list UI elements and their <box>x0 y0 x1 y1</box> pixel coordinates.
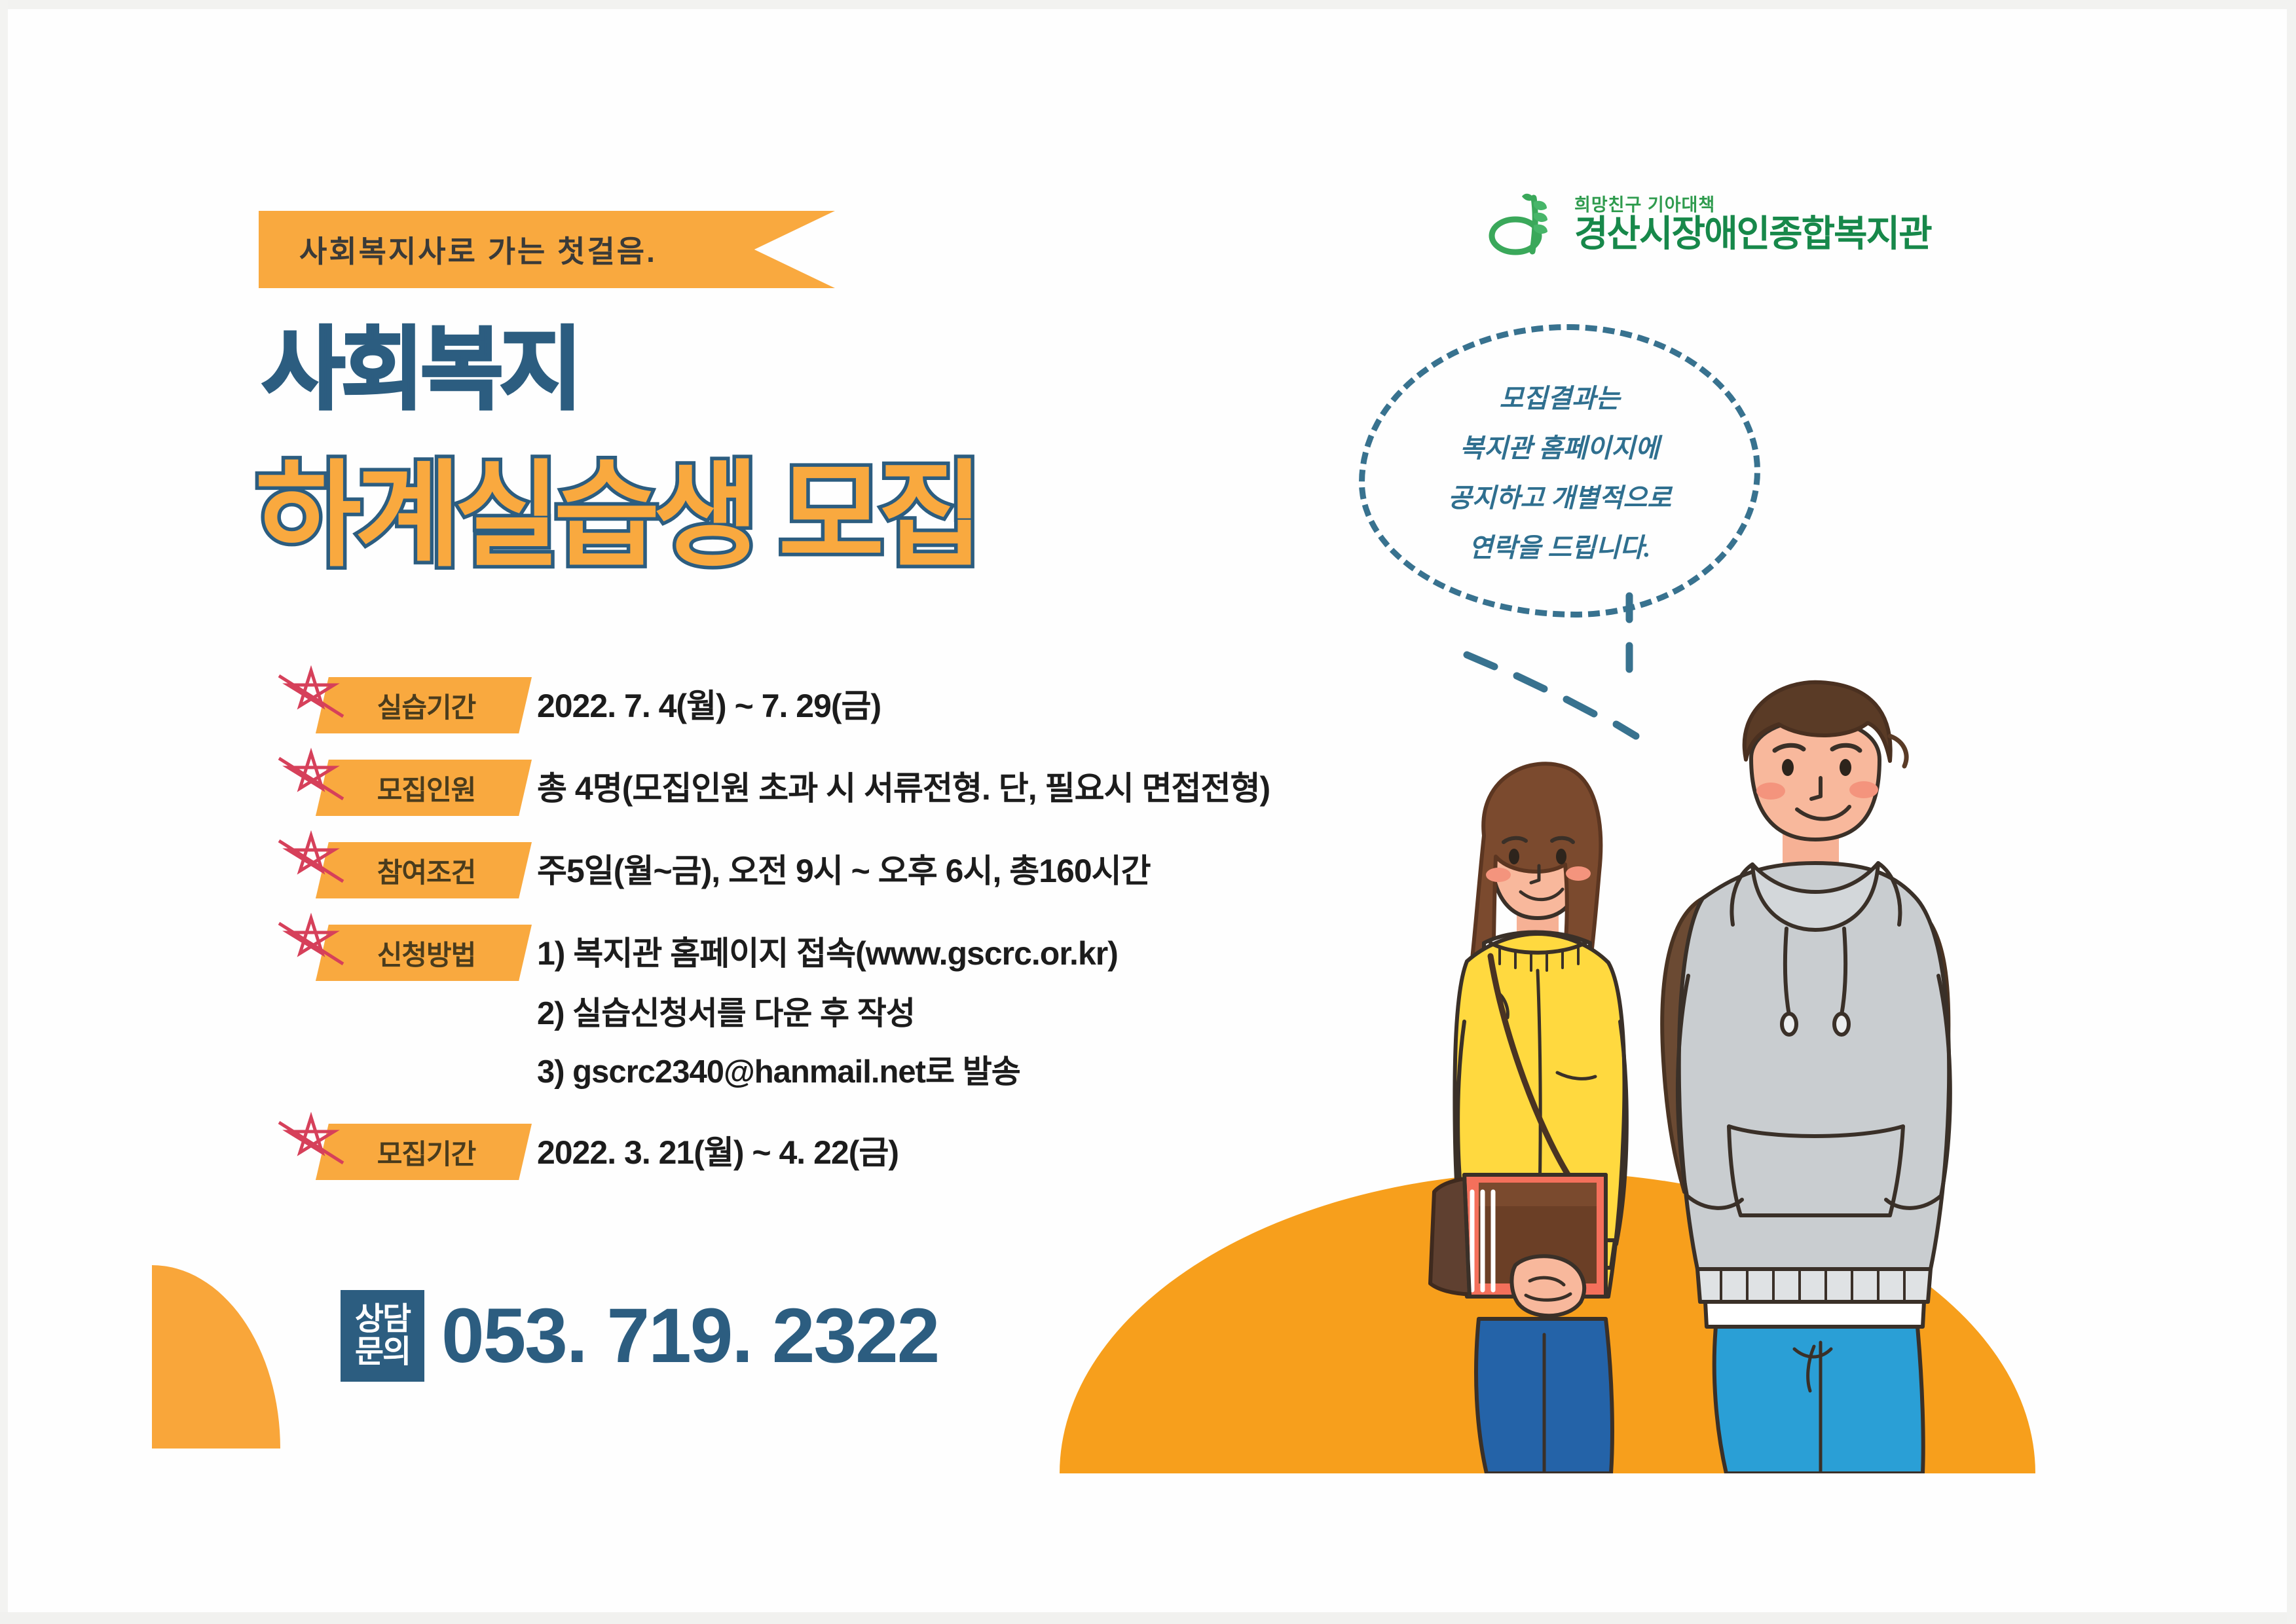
info-label-text: 신청방법 <box>377 933 476 973</box>
info-value-text: 2022. 7. 4(월) ~ 7. 29(금) <box>537 669 881 727</box>
info-value-text: 2022. 3. 21(월) ~ 4. 22(금) <box>537 1116 898 1173</box>
info-label-wrap: 신청방법 <box>275 917 537 987</box>
contact-badge-line-2: 문의 <box>355 1336 410 1369</box>
contact-block: 상담 문의 053. 719. 2322 <box>341 1290 938 1382</box>
wheat-fish-logo-icon <box>1487 189 1565 261</box>
star-icon <box>275 665 347 736</box>
apply-step-1: 1) 복지관 홈페이지 접속(www.gscrc.or.kr) <box>537 917 1118 974</box>
star-icon <box>275 830 347 901</box>
star-icon <box>275 748 347 819</box>
contact-badge-line-1: 상담 <box>355 1303 410 1336</box>
info-value-text: 총 4명(모집인원 초과 시 서류전형. 단, 필요시 면접전형) <box>537 752 1270 809</box>
apply-step-3: 3) gscrc2340@hanmail.net로 발송 <box>537 1046 1118 1092</box>
bubble-line-2: 복지관 홈페이지에 <box>1460 427 1659 465</box>
scan-edge-top <box>0 0 2296 9</box>
speech-bubble: 모집결과는 복지관 홈페이지에 공지하고 개별적으로 연락을 드립니다. <box>1359 324 1760 618</box>
poster-canvas: 사회복지사로 가는 첫걸음. 사회복지 하계실습생 모집 희망친구 기아대책 경… <box>0 0 2296 1624</box>
info-label-tag: 실습기간 <box>316 677 532 733</box>
scan-edge-right <box>2287 0 2296 1624</box>
apply-steps: 1) 복지관 홈페이지 접속(www.gscrc.or.kr) 2) 실습신청서… <box>537 917 1118 1104</box>
headline-line-1: 사회복지 <box>262 325 579 415</box>
info-label-tag: 신청방법 <box>316 925 532 981</box>
organization-logo: 희망친구 기아대책 경산시장애인종합복지관 <box>1487 189 1931 261</box>
info-label-wrap: 모집인원 <box>275 752 537 822</box>
info-label-wrap: 실습기간 <box>275 669 537 740</box>
star-icon <box>275 913 347 984</box>
info-label-tag: 참여조건 <box>316 842 532 898</box>
info-label-text: 모집기간 <box>377 1132 476 1172</box>
info-label-wrap: 모집기간 <box>275 1116 537 1187</box>
logo-organization-name: 경산시장애인종합복지관 <box>1574 215 1931 253</box>
star-icon <box>275 1112 347 1183</box>
contact-phone-number: 053. 719. 2322 <box>441 1291 938 1380</box>
bubble-line-3: 공지하고 개별적으로 <box>1448 477 1671 515</box>
logo-text-block: 희망친구 기아대책 경산시장애인종합복지관 <box>1574 196 1931 253</box>
info-label-tag: 모집인원 <box>316 760 532 816</box>
scan-edge-left <box>0 0 8 1624</box>
headline-line-2: 하계실습생 모집 <box>255 458 977 574</box>
two-students-illustration <box>1362 668 1991 1473</box>
contact-badge: 상담 문의 <box>341 1290 424 1382</box>
orange-corner-shape <box>152 1265 280 1449</box>
apply-step-2: 2) 실습신청서를 다운 후 작성 <box>537 987 1118 1034</box>
info-label-text: 실습기간 <box>377 686 476 726</box>
info-value-text: 주5일(월~금), 오전 9시 ~ 오후 6시, 총160시간 <box>537 834 1151 892</box>
info-label-tag: 모집기간 <box>316 1124 532 1180</box>
info-label-text: 모집인원 <box>377 768 476 808</box>
logo-tagline: 희망친구 기아대책 <box>1574 196 1931 214</box>
bubble-line-1: 모집결과는 <box>1500 377 1620 415</box>
bubble-line-4: 연락을 드립니다. <box>1469 526 1651 564</box>
info-label-text: 참여조건 <box>377 851 476 891</box>
tagline-text: 사회복지사로 가는 첫걸음. <box>299 228 657 271</box>
tagline-ribbon: 사회복지사로 가는 첫걸음. <box>259 211 835 288</box>
info-label-wrap: 참여조건 <box>275 834 537 905</box>
scan-edge-bottom <box>0 1612 2296 1624</box>
